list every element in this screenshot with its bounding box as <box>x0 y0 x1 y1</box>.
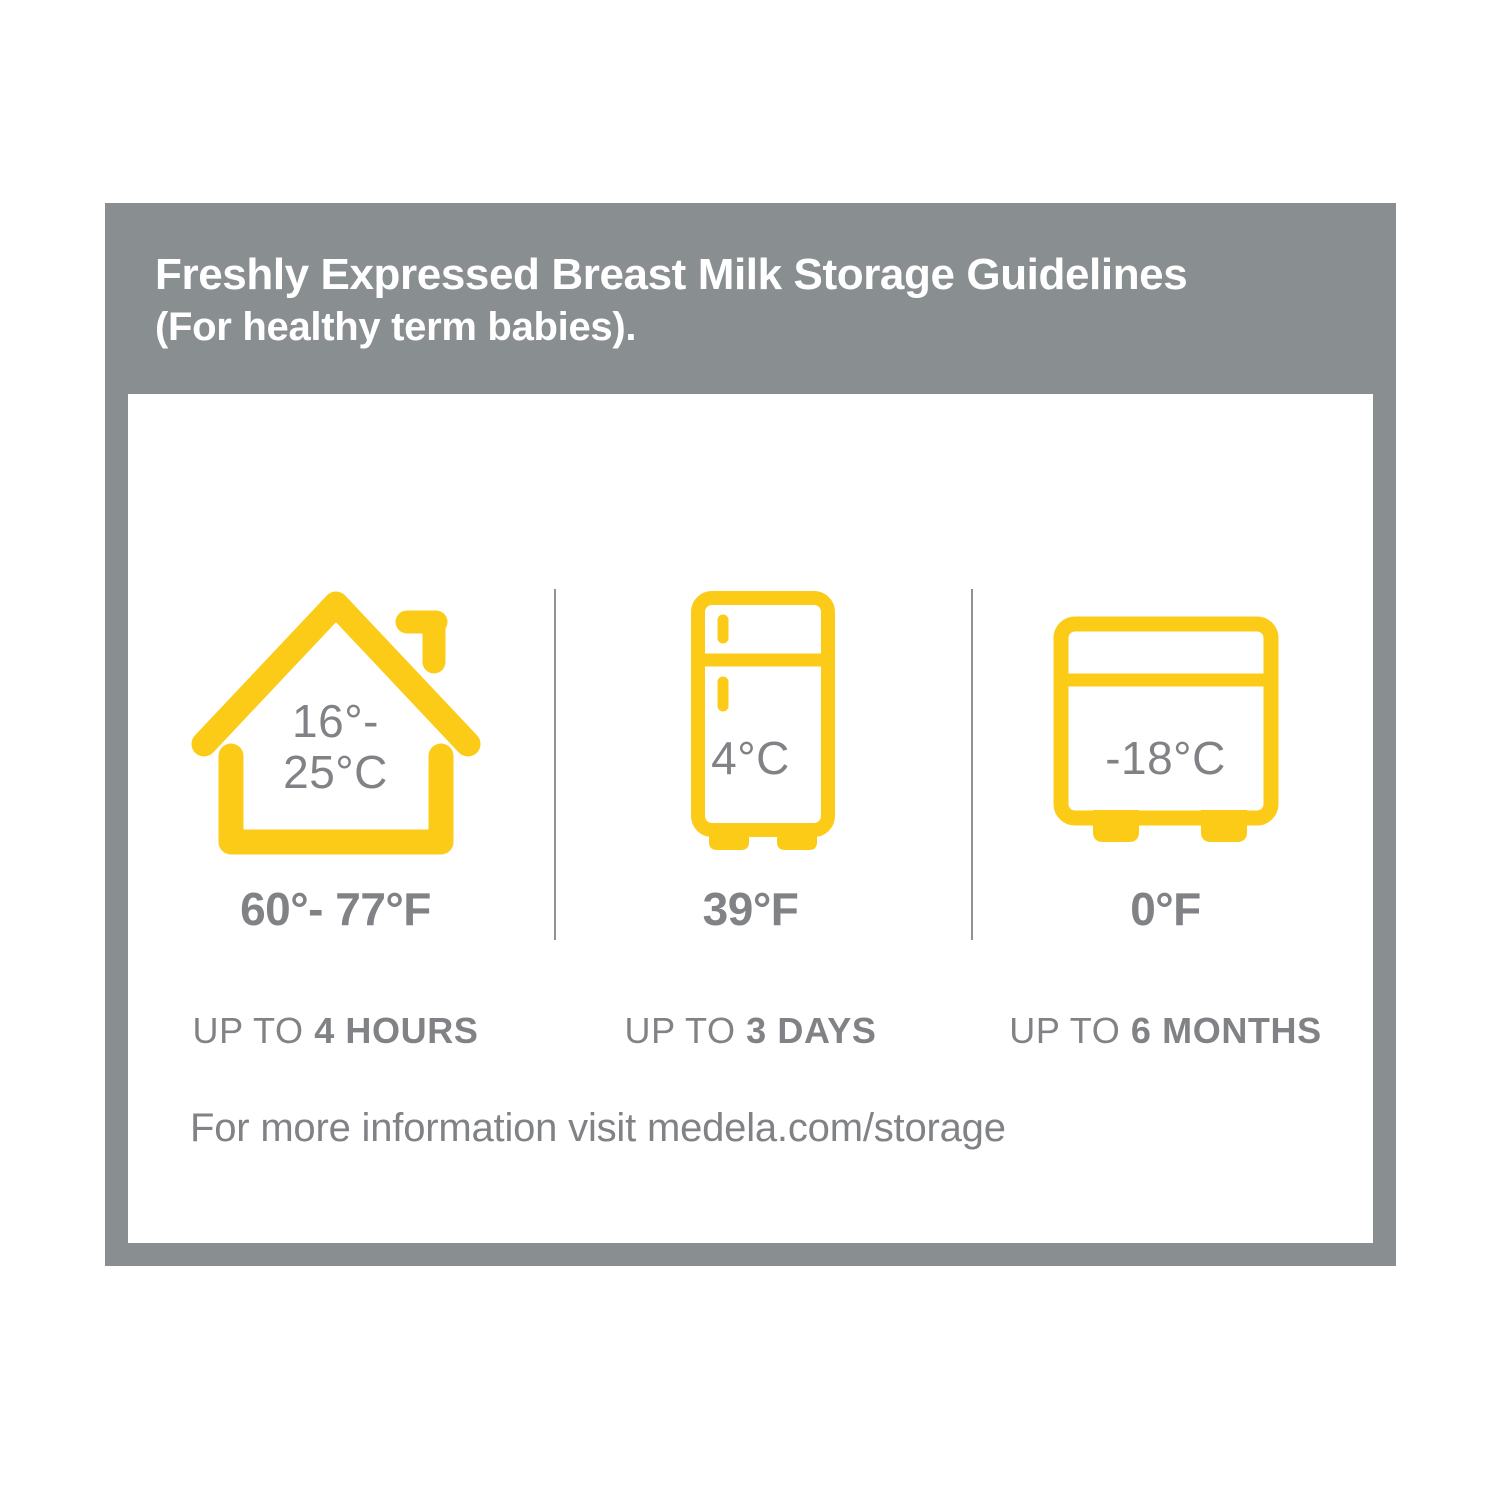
duration-refrigerator: UP TO 3 DAYS <box>625 1010 877 1052</box>
duration-prefix-room: UP TO <box>193 1010 315 1051</box>
duration-freezer: UP TO 6 MONTHS <box>1009 1010 1321 1052</box>
page-title: Freshly Expressed Breast Milk Storage Gu… <box>155 251 1375 299</box>
duration-value-freezer: 6 MONTHS <box>1131 1010 1322 1051</box>
temperature-fahrenheit-room: 60°- 77°F <box>240 882 431 936</box>
storage-column-refrigerator: 4°C 39°F UP TO 3 DAYS <box>543 394 958 1034</box>
duration-room-temperature: UP TO 4 HOURS <box>193 1010 479 1052</box>
house-icon-wrap: 16°- 25°C <box>186 584 486 864</box>
page-subtitle: (For healthy term babies). <box>155 305 1375 350</box>
temperature-fahrenheit-freezer: 0°F <box>1130 882 1201 936</box>
storage-guidelines-infographic: Freshly Expressed Breast Milk Storage Gu… <box>105 203 1396 1266</box>
refrigerator-icon-wrap: 4°C <box>601 584 901 864</box>
more-information-note: For more information visit medela.com/st… <box>190 1106 1006 1151</box>
infographic-header: Freshly Expressed Breast Milk Storage Gu… <box>155 251 1375 349</box>
refrigerator-icon <box>601 584 901 864</box>
storage-column-freezer: -18°C 0°F UP TO 6 MONTHS <box>958 394 1373 1034</box>
temperature-fahrenheit-refrigerator: 39°F <box>703 882 799 936</box>
storage-column-room-temperature: 16°- 25°C 60°- 77°F UP TO 4 HOURS <box>128 394 543 1034</box>
duration-prefix-refrigerator: UP TO <box>625 1010 747 1051</box>
house-icon <box>186 584 486 864</box>
storage-conditions-row: 16°- 25°C 60°- 77°F UP TO 4 HOURS <box>128 394 1373 1034</box>
duration-value-room: 4 HOURS <box>314 1010 478 1051</box>
freezer-icon <box>1016 584 1316 864</box>
duration-value-refrigerator: 3 DAYS <box>746 1010 876 1051</box>
guidelines-card: 16°- 25°C 60°- 77°F UP TO 4 HOURS <box>128 394 1373 1243</box>
freezer-icon-wrap: -18°C <box>1016 584 1316 864</box>
duration-prefix-freezer: UP TO <box>1009 1010 1131 1051</box>
